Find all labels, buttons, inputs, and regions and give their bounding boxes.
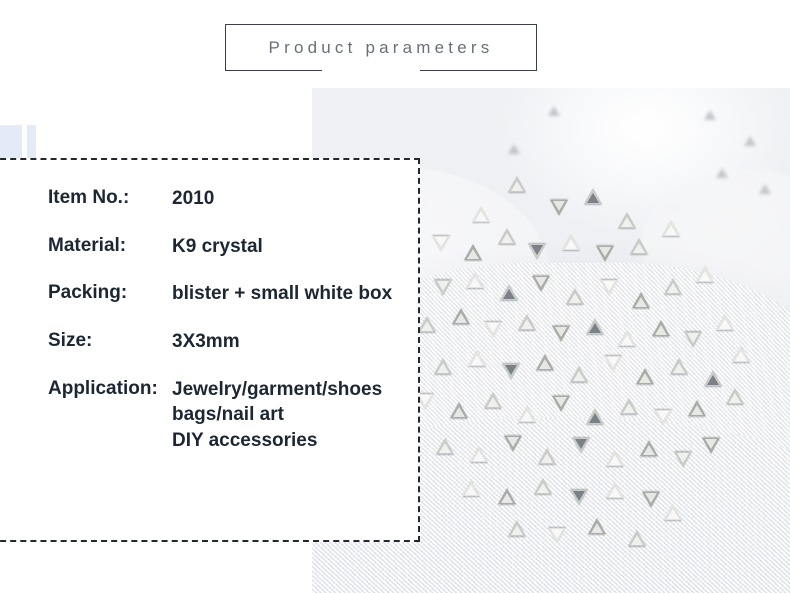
spec-value: 2010 [172,186,214,212]
title-underline-right [420,70,537,71]
spec-label: Application: [48,377,172,401]
specification-list: Item No.: 2010 Material: K9 crystal Pack… [48,186,408,453]
spec-value: K9 crystal [172,234,263,260]
title-underline-left [225,70,322,71]
spec-row-packing: Packing: blister + small white box [48,281,408,307]
spec-value: 3X3mm [172,329,240,355]
spec-row-material: Material: K9 crystal [48,234,408,260]
spec-value: blister + small white box [172,281,392,307]
spec-label: Packing: [48,281,172,305]
spec-row-application: Application: Jewelry/garment/shoes bags/… [48,377,408,454]
spec-row-item-no: Item No.: 2010 [48,186,408,212]
spec-row-size: Size: 3X3mm [48,329,408,355]
spec-value: Jewelry/garment/shoes bags/nail art DIY … [172,377,382,454]
page-title-box: Product parameters [225,24,537,71]
product-parameters-page: Product parameters Item No.: 2010 Materi… [0,0,790,593]
specification-panel: Item No.: 2010 Material: K9 crystal Pack… [0,158,420,542]
spec-label: Size: [48,329,172,353]
page-title: Product parameters [269,38,494,58]
spec-label: Item No.: [48,186,172,210]
spec-label: Material: [48,234,172,258]
